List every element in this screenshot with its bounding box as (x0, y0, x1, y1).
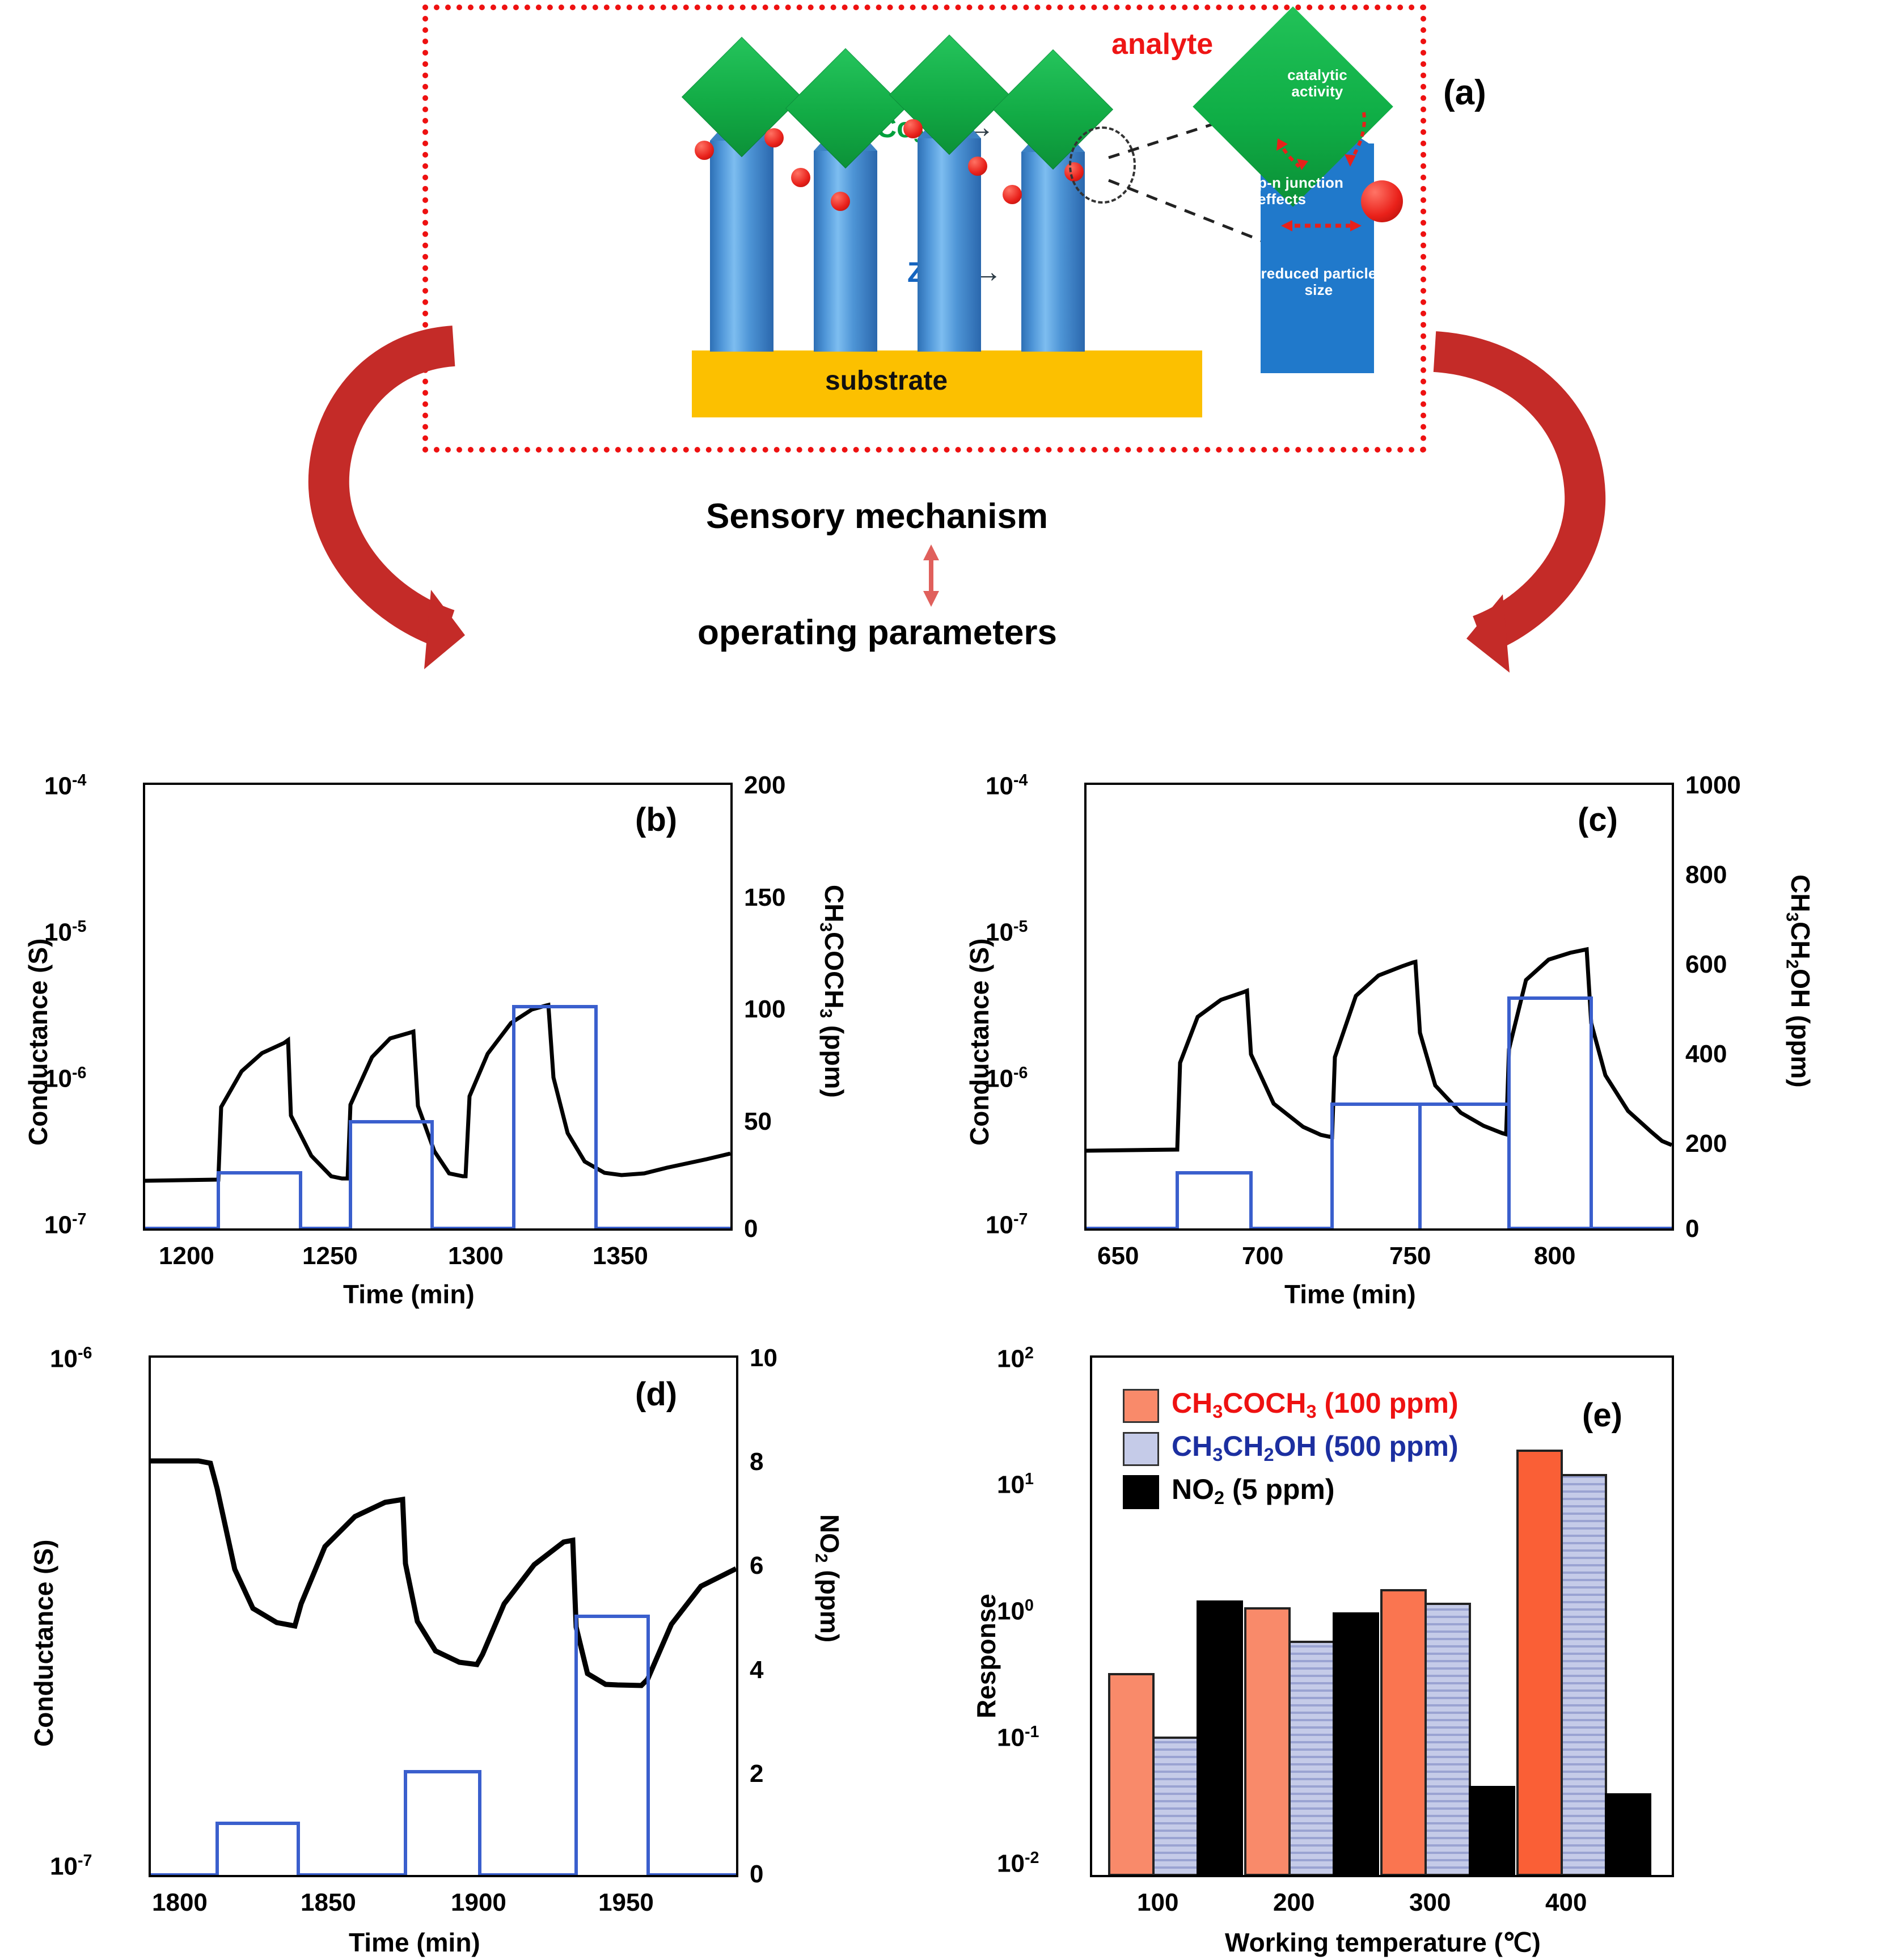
panel-d-ytick-right: 6 (750, 1552, 763, 1580)
analyte-label: analyte (1111, 27, 1213, 61)
panel-d-xlabel: Time (min) (349, 1927, 480, 1958)
panel-d-ylabel-left: Conductance (S) (28, 1540, 59, 1747)
panel-b-ytick-right: 100 (744, 995, 785, 1024)
analyte-particle (903, 119, 923, 138)
panel-e-xlabel: Working temperature (℃) (1225, 1927, 1541, 1958)
panel-c-ytick-right: 800 (1685, 861, 1727, 889)
left-cycle-arrow-icon (227, 238, 465, 686)
panel-b-plot-area (145, 785, 730, 1228)
panel-c-ytick-right: 1000 (1685, 771, 1741, 800)
legend-swatch-ethanol (1123, 1432, 1159, 1466)
panel-e-ytick: 100 (997, 1596, 1034, 1626)
panel-c-ytick-left: 10-7 (986, 1210, 1028, 1240)
panel-b-ytick-left: 10-6 (44, 1064, 86, 1093)
panel-d-xtick: 1800 (152, 1889, 208, 1917)
analyte-particle (695, 141, 714, 160)
analyte-particle (1003, 185, 1022, 204)
co3o4-plate (682, 37, 802, 157)
co3o4-plate (785, 48, 906, 168)
panel-d-xtick: 1950 (598, 1889, 654, 1917)
panel-c-plot-area (1087, 785, 1672, 1228)
panel-e-xtick: 200 (1273, 1889, 1314, 1917)
panel-c-ytick-left: 10-4 (986, 771, 1028, 801)
panel-e-response-bar-chart: Response 102 101 100 10-1 10-2 CH3C (936, 1265, 1894, 1934)
substrate-label: substrate (825, 365, 948, 396)
panel-d-ytick-right: 2 (750, 1760, 763, 1788)
zno-nanorod (710, 141, 773, 352)
panel-c-ytick-left: 10-6 (986, 1064, 1028, 1093)
panel-e-ytick: 10-2 (997, 1849, 1039, 1878)
sensory-mechanism-title: Sensory mechanism (706, 496, 1048, 537)
panel-b-acetone-chart: Conductance (S) 10-4 10-5 10-6 10-7 (b) … (0, 675, 936, 1242)
zno-nanorod (814, 151, 877, 352)
panel-a-schematic: analyte (a) Co3O4 → ZnO → substrate (422, 5, 1426, 453)
panel-e-ytick: 102 (997, 1344, 1034, 1374)
panel-d-plot-area (151, 1358, 736, 1875)
panel-e-xtick: 100 (1137, 1889, 1178, 1917)
legend-label-acetone: CH3COCH3 (100 ppm) (1172, 1387, 1459, 1422)
double-headed-arrow-icon (914, 544, 948, 607)
legend-label-no2: NO2 (5 ppm) (1172, 1473, 1335, 1509)
panel-c-tag: (c) (1578, 801, 1618, 839)
panel-d-no2-chart: Conductance (S) 10-6 10-7 (d) 10 8 6 4 2… (0, 1265, 936, 1934)
legend-label-ethanol: CH3CH2OH (500 ppm) (1172, 1430, 1459, 1465)
panel-b-ytick-right: 200 (744, 771, 785, 800)
panel-c-ylabel-right: CH3CH2OH (ppm) (1782, 875, 1816, 1088)
panel-c-ethanol-chart: Conductance (S) 10-4 10-5 10-6 10-7 (c) … (936, 675, 1894, 1242)
panel-d-ytick-left: 10-7 (50, 1852, 92, 1881)
panel-d-ytick-left: 10-6 (50, 1344, 92, 1374)
analyte-particle (764, 128, 784, 147)
legend-swatch-no2 (1123, 1475, 1159, 1509)
panel-c-ytick-right: 200 (1685, 1130, 1727, 1158)
panel-c-ytick-left: 10-5 (986, 918, 1028, 947)
analyte-particle (791, 168, 810, 187)
panel-b-ytick-left: 10-5 (44, 918, 86, 947)
analyte-particle (831, 192, 850, 211)
panel-b-ylabel-left: Conductance (S) (23, 939, 53, 1146)
panel-b-ytick-left: 10-7 (44, 1210, 86, 1240)
panel-d-xtick: 1850 (301, 1889, 356, 1917)
legend-swatch-acetone (1123, 1389, 1159, 1423)
panel-b-ytick-right: 0 (744, 1215, 758, 1243)
panel-d-tag: (d) (635, 1375, 677, 1413)
panel-d-ytick-right: 0 (750, 1860, 763, 1889)
panel-e-xtick: 400 (1545, 1889, 1587, 1917)
panel-b-ytick-left: 10-4 (44, 771, 86, 801)
panel-d-ytick-right: 4 (750, 1656, 763, 1684)
panel-c-ytick-right: 400 (1685, 1040, 1727, 1068)
panel-c-ytick-right: 0 (1685, 1215, 1699, 1243)
right-cycle-arrow-icon (1412, 238, 1656, 686)
panel-b-ytick-right: 150 (744, 884, 785, 912)
panel-e-tag: (e) (1582, 1396, 1622, 1434)
inset-zno-rod-foot (1261, 350, 1374, 373)
panel-c-ylabel-left: Conductance (S) (964, 939, 995, 1146)
panel-d-xtick: 1900 (451, 1889, 506, 1917)
panel-d-ytick-right: 8 (750, 1448, 763, 1476)
panel-e-ytick: 101 (997, 1470, 1034, 1499)
panel-b-ytick-right: 50 (744, 1108, 772, 1136)
panel-e-xtick: 300 (1409, 1889, 1451, 1917)
panel-b-tag: (b) (635, 801, 677, 839)
operating-parameters-title: operating parameters (698, 612, 1057, 653)
panel-a-tag: (a) (1443, 73, 1486, 113)
panel-d-ytick-right: 10 (750, 1344, 777, 1372)
inset-red-arrows-icon (1245, 95, 1392, 282)
panel-d-ylabel-right: NO2 (ppm) (811, 1514, 845, 1642)
panel-c-ytick-right: 600 (1685, 951, 1727, 979)
analyte-particle (968, 157, 987, 176)
panel-b-ylabel-right: CH3COCH3 (ppm) (816, 885, 849, 1098)
panel-e-ytick: 10-1 (997, 1723, 1039, 1752)
